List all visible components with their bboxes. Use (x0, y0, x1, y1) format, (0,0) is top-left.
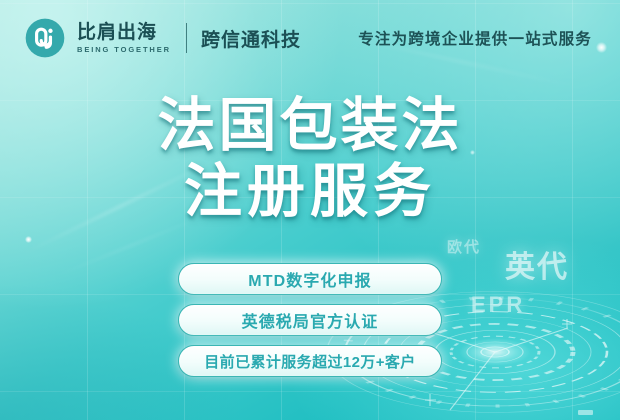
badge-pill-mtd[interactable]: MTD数字化申报 (178, 263, 442, 295)
badge-list: MTD数字化申报 英德税局官方认证 目前已累计服务超过12万+客户 (0, 263, 620, 377)
banner-header: 比肩出海 BEING TOGETHER 跨信通科技 专注为跨境企业提供一站式服务 (0, 0, 620, 76)
hero-title-block: 法国包装法 注册服务 (0, 92, 620, 224)
badge-pill-label: MTD数字化申报 (248, 267, 371, 291)
logo-divider (186, 23, 187, 53)
badge-pill-certification[interactable]: 英德税局官方认证 (178, 304, 442, 336)
hero-title-line-1: 法国包装法 (0, 92, 620, 158)
brand-logo[interactable]: 比肩出海 BEING TOGETHER 跨信通科技 (24, 17, 301, 59)
header-slogan: 专注为跨境企业提供一站式服务 (358, 27, 598, 49)
sub-brand-name: 跨信通科技 (201, 25, 301, 52)
hero-title-line-2: 注册服务 (0, 158, 620, 224)
company-name-cn: 比肩出海 (77, 23, 171, 43)
badge-pill-label: 目前已累计服务超过12万+客户 (204, 351, 415, 372)
being-together-circle-logo-icon (24, 17, 66, 59)
badge-pill-customer-count[interactable]: 目前已累计服务超过12万+客户 (178, 345, 442, 377)
brand-logo-text: 比肩出海 BEING TOGETHER (77, 23, 171, 53)
sparkle-dot-icon (25, 236, 32, 243)
watermark-oudai: 欧代 (447, 236, 481, 257)
promo-banner: 欧代 英代 EPR 比肩出海 BEING TOGETHER 跨信通科技 专注为跨… (0, 0, 620, 420)
badge-pill-label: 英德税局官方认证 (242, 308, 379, 332)
company-name-en: BEING TOGETHER (77, 46, 171, 54)
